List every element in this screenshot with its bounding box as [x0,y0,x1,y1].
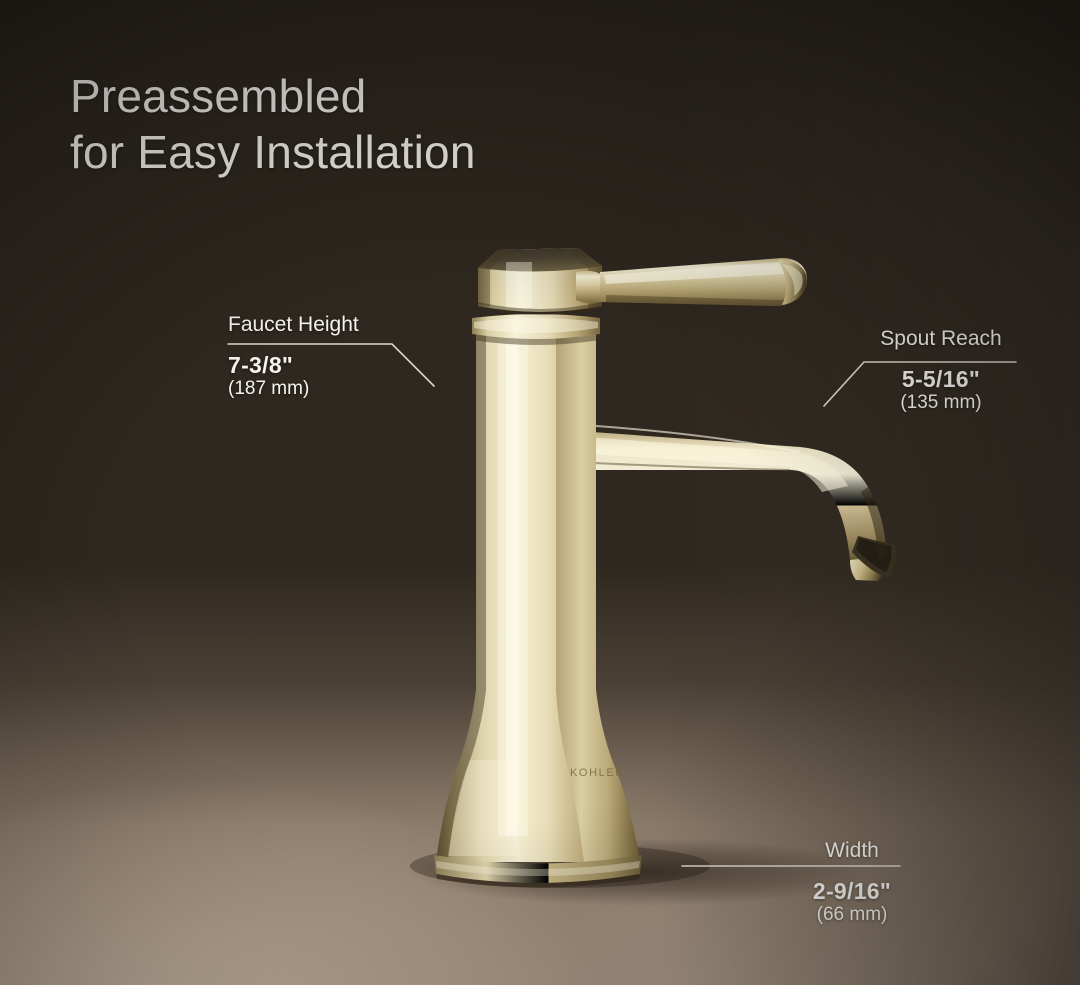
background-vignette [0,0,1080,985]
product-dimension-image: KOHLER Preassembled for Easy Installatio… [0,0,1080,985]
